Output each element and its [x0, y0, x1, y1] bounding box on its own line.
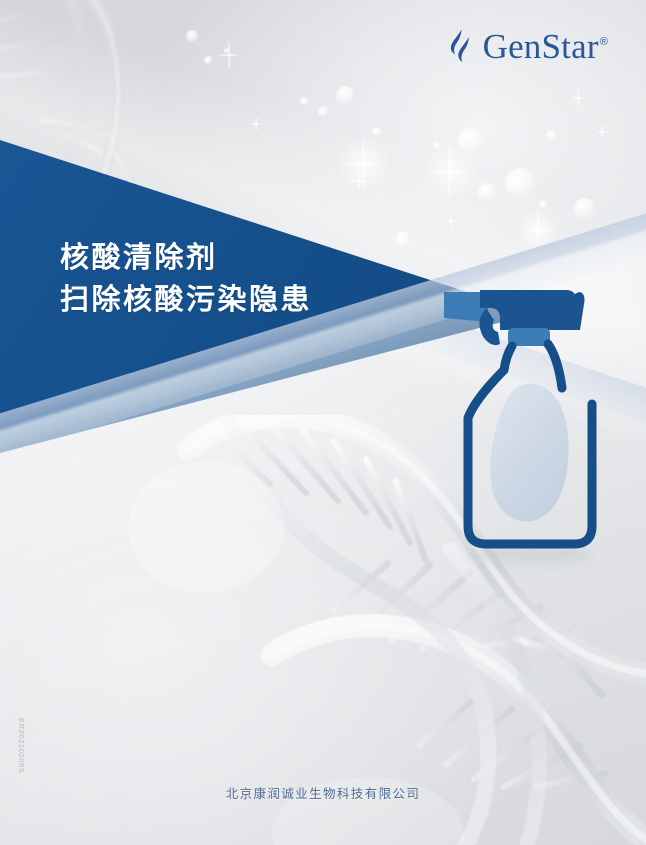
- genstar-logo[interactable]: GenStar®: [448, 28, 608, 64]
- document-code: KR20210209S: [17, 718, 26, 773]
- sparkle-glow: [516, 208, 560, 252]
- sparkle-star: [520, 212, 556, 248]
- spray-bottle-illustration: [440, 278, 615, 578]
- genstar-flame-logo-icon: [448, 28, 476, 64]
- sparkle-star: [570, 90, 586, 106]
- sparkle-star: [596, 126, 608, 138]
- bokeh-circle: [546, 130, 557, 141]
- bokeh-circle: [336, 86, 355, 105]
- genstar-wordmark: GenStar®: [483, 29, 608, 64]
- logo-text: GenStar: [483, 27, 599, 66]
- title-line-1: 核酸清除剂: [60, 237, 312, 279]
- registered-mark: ®: [600, 36, 608, 48]
- bokeh-circle: [574, 198, 596, 220]
- bokeh-circle: [204, 56, 213, 65]
- bokeh-circle: [539, 200, 548, 209]
- sparkle-star: [216, 42, 242, 68]
- bokeh-circle: [224, 48, 230, 54]
- page-title: 核酸清除剂 扫除核酸污染隐患: [60, 237, 312, 322]
- bokeh-circle: [300, 97, 309, 106]
- poster-page: GenStar® 核酸清除剂 扫除核酸污染隐患: [0, 0, 646, 845]
- bokeh-circle: [186, 30, 199, 43]
- title-line-2: 扫除核酸污染隐患: [60, 279, 312, 321]
- company-footer: 北京康润诚业生物科技有限公司: [0, 783, 646, 802]
